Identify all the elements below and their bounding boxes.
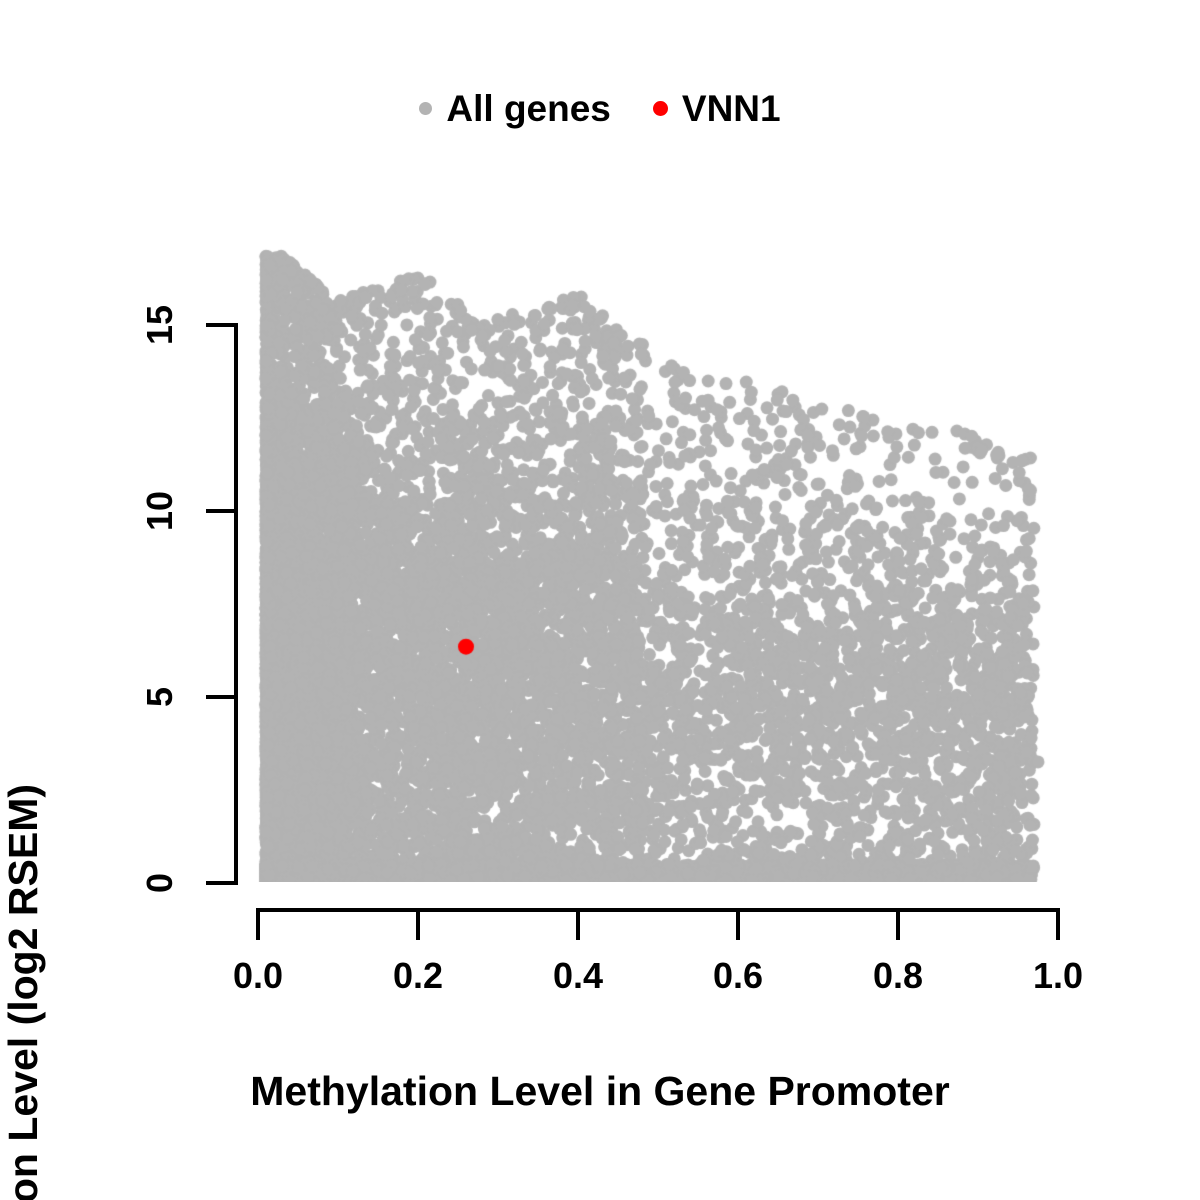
x-axis-tick-0.8 xyxy=(896,908,900,940)
legend: All genes VNN1 xyxy=(0,78,1200,138)
scatter-plot-figure: All genes VNN1 0 5 10 15 0.0 0.2 0.4 0.6… xyxy=(0,0,1200,1200)
y-axis-title: Gene Expression Level (log2 RSEM) xyxy=(0,536,64,1200)
x-axis-tick-0.4 xyxy=(576,908,580,940)
x-axis-tick-label-0.0: 0.0 xyxy=(233,958,283,994)
y-axis-line xyxy=(234,323,238,883)
x-axis-tick-0.0 xyxy=(256,908,260,940)
x-axis-tick-label-0.6: 0.6 xyxy=(713,958,763,994)
x-axis-tick-0.6 xyxy=(736,908,740,940)
y-axis-tick-label-10: 10 xyxy=(142,491,178,531)
grey-dot-marker-icon xyxy=(419,102,432,115)
y-axis-tick-15 xyxy=(206,323,238,327)
x-axis-tick-1.0 xyxy=(1056,908,1060,940)
y-axis-tick-5 xyxy=(206,695,238,699)
y-axis-tick-label-15: 15 xyxy=(142,305,178,345)
legend-label-vnn1: VNN1 xyxy=(682,90,781,127)
x-axis-tick-label-0.4: 0.4 xyxy=(553,958,603,994)
y-axis-tick-0 xyxy=(206,881,238,885)
plot-area xyxy=(238,230,1060,882)
x-axis-tick-label-0.2: 0.2 xyxy=(393,958,443,994)
red-dot-marker-icon xyxy=(653,101,668,116)
x-axis-title: Methylation Level in Gene Promoter xyxy=(0,1068,1200,1115)
legend-label-all-genes: All genes xyxy=(446,90,611,127)
scatter-points-canvas xyxy=(238,230,1060,882)
x-axis-tick-label-0.8: 0.8 xyxy=(873,958,923,994)
legend-entry-all-genes: All genes xyxy=(419,90,611,127)
x-axis-tick-0.2 xyxy=(416,908,420,940)
x-axis-tick-label-1.0: 1.0 xyxy=(1033,958,1083,994)
x-axis-line xyxy=(256,908,1060,912)
y-axis-tick-label-0: 0 xyxy=(142,873,178,893)
y-axis-tick-10 xyxy=(206,509,238,513)
y-axis-tick-label-5: 5 xyxy=(142,687,178,707)
legend-entry-vnn1: VNN1 xyxy=(653,90,781,127)
